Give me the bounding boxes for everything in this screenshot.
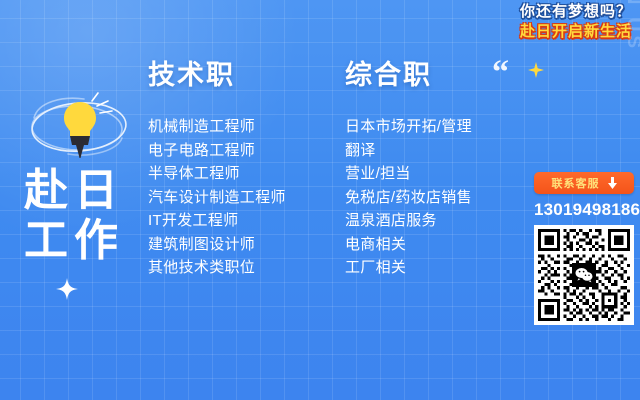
- wechat-qr-code[interactable]: [534, 225, 634, 325]
- job-column-general: 综合职 日本市场开拓/管理 翻译 营业/担当 免税店/药妆店销售 温泉酒店服务 …: [345, 62, 472, 280]
- job-list-tech: 机械制造工程师 电子电路工程师 半导体工程师 汽车设计制造工程师 IT开发工程师…: [148, 115, 286, 280]
- job-column-tech: 技术职 机械制造工程师 电子电路工程师 半导体工程师 汽车设计制造工程师 IT开…: [148, 62, 286, 280]
- list-item: 营业/担当: [345, 162, 472, 186]
- list-item: 翻译: [345, 139, 472, 163]
- list-item: 其他技术类职位: [148, 256, 286, 280]
- list-item: 日本市场开拓/管理: [345, 115, 472, 139]
- column-title-general: 综合职: [345, 62, 472, 89]
- list-item: 建筑制图设计师: [148, 233, 286, 257]
- list-item: 工厂相关: [345, 256, 472, 280]
- list-item: 免税店/药妆店销售: [345, 186, 472, 210]
- headline-block: 你还有梦想吗？ 赴日开启新生活: [520, 4, 632, 39]
- quotation-mark-icon: “: [492, 56, 509, 90]
- list-item: IT开发工程师: [148, 209, 286, 233]
- list-item: 半导体工程师: [148, 162, 286, 186]
- column-title-tech: 技术职: [148, 62, 286, 89]
- contact-support-label: 联系客服: [552, 175, 600, 191]
- list-item: 汽车设计制造工程师: [148, 186, 286, 210]
- job-list-general: 日本市场开拓/管理 翻译 营业/担当 免税店/药妆店销售 温泉酒店服务 电商相关…: [345, 115, 472, 280]
- list-item: 电子电路工程师: [148, 139, 286, 163]
- list-item: 电商相关: [345, 233, 472, 257]
- contact-phone-number[interactable]: 13019498186: [534, 200, 636, 220]
- join-us-vertical-label: JOIN US: [622, 0, 640, 52]
- poster-canvas: 你还有梦想吗？ 赴日开启新生活 JOIN US “: [0, 0, 640, 400]
- sparkle-white-icon: [56, 278, 78, 300]
- contact-block: 联系客服 13019498186: [534, 172, 636, 325]
- wechat-icon: [572, 263, 596, 287]
- headline-line-2: 赴日开启新生活: [520, 24, 632, 39]
- list-item: 温泉酒店服务: [345, 209, 472, 233]
- lightbulb-illustration: [22, 82, 140, 170]
- brand-title-line-1: 赴日: [24, 166, 124, 216]
- sparkle-yellow-icon: [528, 62, 544, 78]
- list-item: 机械制造工程师: [148, 115, 286, 139]
- contact-support-button[interactable]: 联系客服: [534, 172, 634, 194]
- arrow-down-icon: [608, 177, 617, 189]
- brand-title: 赴日 工作: [24, 166, 124, 266]
- headline-line-1: 你还有梦想吗？: [520, 4, 632, 19]
- brand-title-line-2: 工作: [24, 216, 124, 266]
